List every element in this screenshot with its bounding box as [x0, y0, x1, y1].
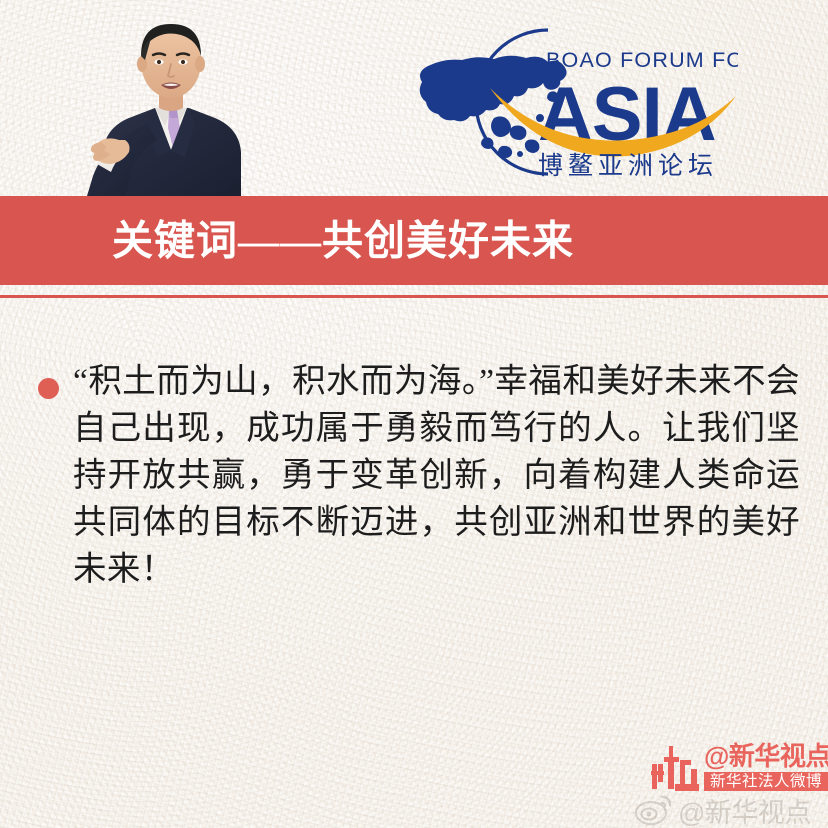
keyword-banner: 关键词——共创美好未来: [0, 196, 828, 285]
weibo-watermark: @新华视点: [634, 792, 828, 828]
quote-block: “积土而为山，积水而为海。”幸福和美好未来不会自己出现，成功属于勇毅而笃行的人。…: [30, 358, 800, 593]
bullet-point-icon: [38, 378, 59, 399]
publisher-watermark: @新华视点 新华社法人微博 @新华视点: [642, 742, 828, 828]
svg-text:BOAO FORUM FOR: BOAO FORUM FOR: [546, 48, 738, 72]
info-card: BOAO FORUM FOR ASIA 博鳌亚洲论坛 关键词——共创美好未来 “…: [0, 0, 828, 828]
quote-paragraph: “积土而为山，积水而为海。”幸福和美好未来不会自己出现，成功属于勇毅而笃行的人。…: [30, 358, 800, 593]
watermark-handle: @新华视点: [704, 742, 828, 771]
watermark-subtitle: 新华社法人微博: [704, 772, 828, 791]
banner-title: 关键词——共创美好未来: [112, 220, 574, 261]
speaker-portrait: [85, 0, 257, 196]
svg-text:博鳌亚洲论坛: 博鳌亚洲论坛: [538, 152, 718, 180]
weibo-watermark-label: @新华视点: [678, 791, 811, 828]
xinhua-logo-mark-icon: [647, 744, 703, 794]
watermark-text-block: @新华视点 新华社法人微博: [704, 742, 828, 791]
weibo-eye-icon: [634, 793, 674, 827]
boao-forum-logo: BOAO FORUM FOR ASIA 博鳌亚洲论坛: [398, 22, 738, 182]
banner-divider-rule: [0, 295, 828, 298]
